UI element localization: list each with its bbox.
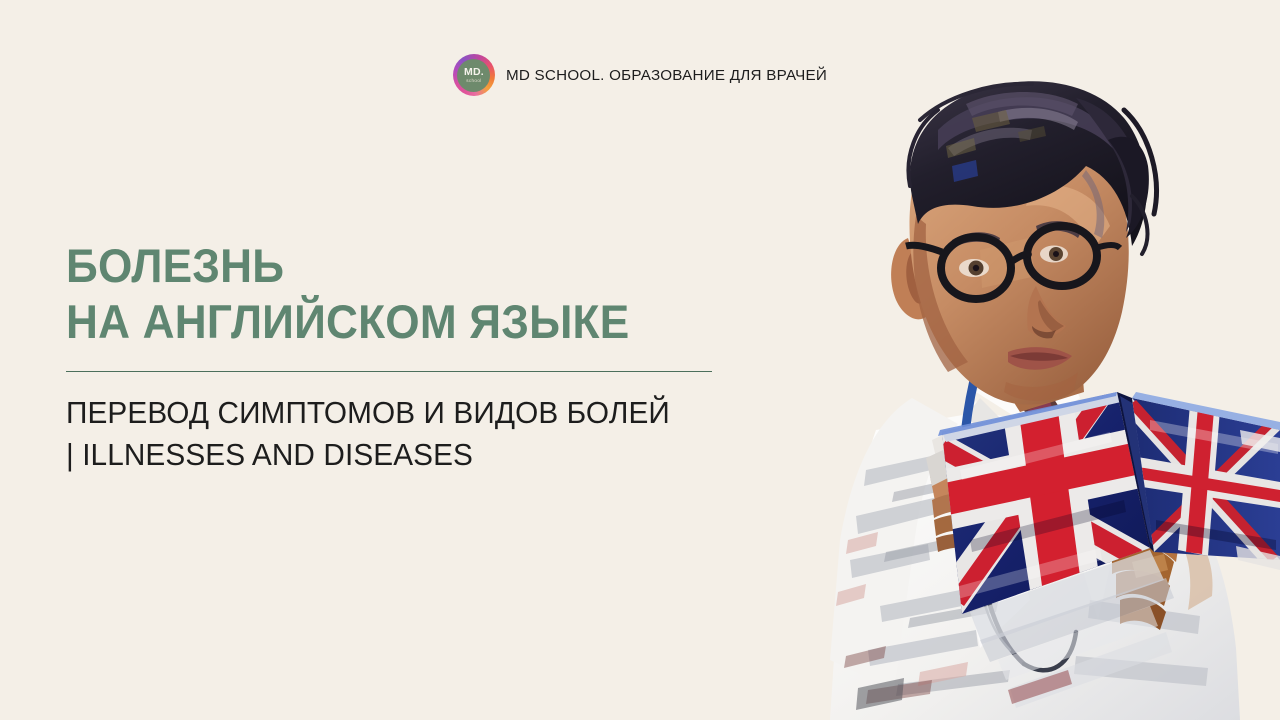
divider-rule [66,371,712,372]
logo-primary-text: MD. [464,67,484,78]
subtitle-line-1: ПЕРЕВОД СИМПТОМОВ И ВИДОВ БОЛЕЙ [66,392,700,434]
doctor-reading-uk-flag-book-illustration [680,0,1280,720]
logo-secondary-text: school [466,79,481,84]
uk-flag-left-page [924,376,1150,614]
brand-title: MD SCHOOL. ОБРАЗОВАНИЕ ДЛЯ ВРАЧЕЙ [506,67,827,84]
face [910,129,1129,404]
md-school-logo-icon: MD. school [453,54,495,96]
stethoscope [963,372,1076,670]
left-hand [930,458,1010,552]
headline-line-1: БОЛЕЗНЬ [66,238,686,294]
subtitle-line-2: | ILLNESSES AND DISEASES [66,434,700,476]
logo-inner-disc: MD. school [457,59,490,92]
slide-canvas: MD. school MD SCHOOL. ОБРАЗОВАНИЕ ДЛЯ ВР… [0,0,1280,720]
title-block: БОЛЕЗНЬ НА АНГЛИЙСКОМ ЯЗЫКЕ ПЕРЕВОД СИМП… [66,238,726,476]
shirt-collar [966,366,1080,452]
right-hand [1108,503,1213,630]
neck [992,312,1084,412]
ear [891,238,932,319]
header: MD. school MD SCHOOL. ОБРАЗОВАНИЕ ДЛЯ ВР… [0,54,1280,96]
glasses-icon [906,226,1120,299]
necktie [1020,396,1084,562]
subtitle-block: ПЕРЕВОД СИМПТОМОВ И ВИДОВ БОЛЕЙ | ILLNES… [66,392,700,476]
headline-line-2: НА АНГЛИЙСКОМ ЯЗЫКЕ [66,294,686,350]
uk-flag-right-page [1120,398,1280,568]
book-with-uk-flag [924,376,1280,662]
hair [908,81,1156,254]
lab-coat [830,398,1240,720]
